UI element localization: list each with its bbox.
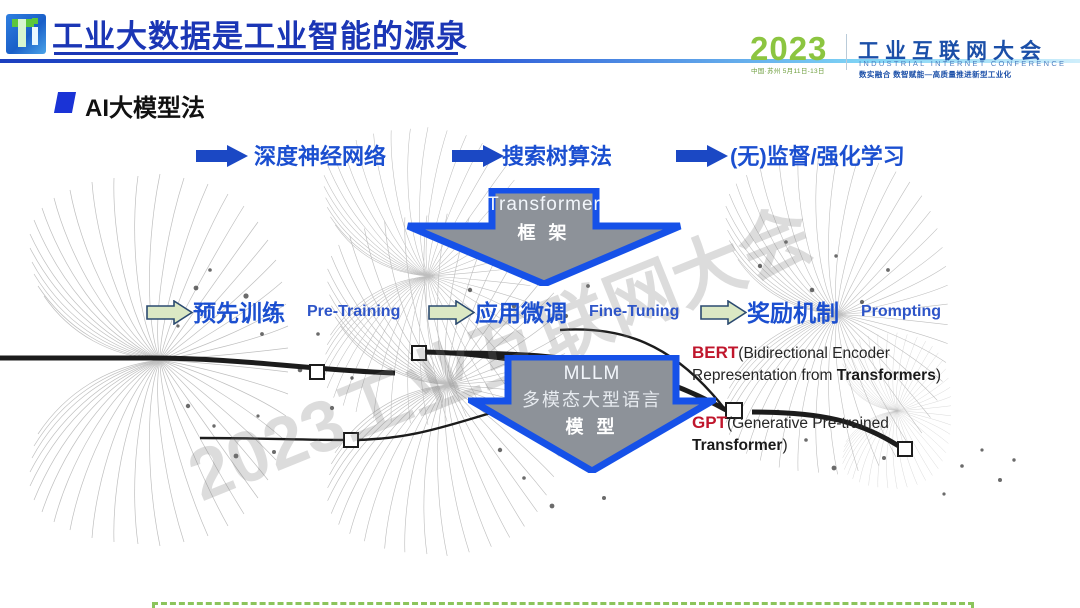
callout-line-2: 框 架	[404, 219, 684, 245]
arrow-head	[483, 145, 504, 167]
blue-parallelogram-bullet-icon	[54, 92, 76, 113]
arrow-shaft	[196, 150, 229, 162]
callout-text: Transformer 框 架	[404, 188, 684, 245]
gpt-note: GPT(Generative Pre-trained Transformer)	[692, 412, 889, 457]
arrow-head	[227, 145, 248, 167]
arrow-shaft	[452, 150, 485, 162]
title-underline	[54, 52, 458, 55]
callout-text: MLLM 多模态大型语言 模 型	[468, 355, 716, 439]
bert-note: BERT(Bidirectional Encoder Representatio…	[692, 342, 941, 387]
arrow-shaft	[676, 150, 709, 162]
slide-header: 工业大数据是工业智能的源泉 2023 中国·苏州 5月11日-13日 工业互联网…	[0, 0, 1080, 62]
middle-row-label-en-3: Prompting	[861, 303, 941, 321]
gpt-note-line-1: GPT(Generative Pre-trained	[692, 412, 889, 435]
conference-place-date: 中国·苏州 5月11日-13日	[751, 65, 825, 75]
outcomes-dashed-container	[152, 602, 974, 608]
logo-i-stem	[32, 27, 38, 45]
page-title: 工业大数据是工业智能的源泉	[52, 11, 468, 56]
logo-t-stem	[18, 19, 26, 47]
arrow-outline-shape	[428, 300, 475, 325]
transformer-callout: Transformer 框 架	[404, 188, 684, 286]
arrow-head	[707, 145, 728, 167]
middle-row-label-cn-2: 应用微调	[475, 294, 567, 328]
ti-logo-icon	[6, 14, 46, 54]
right-arrow-icon	[452, 145, 504, 167]
slide-root: 工业大数据是工业智能的源泉 2023 中国·苏州 5月11日-13日 工业互联网…	[0, 0, 1080, 608]
middle-row-label-cn-3: 奖励机制	[747, 294, 839, 328]
callout-line-3: 模 型	[468, 413, 716, 439]
bert-expansion-bold: Transformers	[837, 367, 936, 384]
gpt-expansion-line-1: (Generative Pre-trained	[727, 415, 889, 432]
middle-row-label-en-2: Fine-Tuning	[589, 303, 679, 321]
arrow-outline-shape	[146, 300, 193, 325]
gpt-note-line-2: Transformer)	[692, 435, 889, 457]
top-row-label-1: 深度神经网络	[254, 139, 386, 171]
bert-note-line-2: Representation from Transformers)	[692, 365, 941, 387]
callout-line-1: MLLM	[468, 363, 716, 385]
conference-name-en: INDUSTRIAL INTERNET CONFERENCE	[859, 59, 1066, 68]
middle-row-label-en-1: Pre-Training	[307, 303, 400, 321]
conference-logo-divider	[846, 34, 847, 70]
callout-line-1: Transformer	[404, 194, 684, 216]
conference-logo: 2023 中国·苏州 5月11日-13日 工业互联网大会 INDUSTRIAL …	[746, 33, 1076, 77]
callout-line-2: 多模态大型语言	[468, 386, 716, 412]
middle-row-label-cn-1: 预先训练	[193, 294, 285, 328]
bert-note-line-1: BERT(Bidirectional Encoder	[692, 342, 941, 365]
gpt-expansion-bold: Transformer	[692, 437, 782, 454]
top-row-label-3: (无)监督/强化学习	[730, 139, 905, 171]
mllm-callout: MLLM 多模态大型语言 模 型	[468, 355, 716, 473]
bert-expansion-line-2-post: )	[936, 367, 941, 384]
right-arrow-outline-icon	[700, 300, 747, 325]
conference-slogan: 数实融合 数智赋能—高质量推进新型工业化	[859, 69, 1012, 80]
right-arrow-outline-icon	[428, 300, 475, 325]
conference-year: 2023	[750, 33, 827, 65]
bert-expansion-line-1: (Bidirectional Encoder	[738, 345, 890, 362]
right-arrow-icon	[676, 145, 728, 167]
section-title-label: AI大模型法	[85, 88, 205, 123]
diagram-canvas: 2023工业互联网大会 深度神经网络 搜索树算法 (无)监督/强化学习 Tran…	[0, 120, 1080, 608]
gpt-expansion-line-2-post: )	[782, 437, 787, 454]
logo-i-dot	[32, 18, 38, 24]
top-row-label-2: 搜索树算法	[502, 139, 612, 171]
right-arrow-icon	[196, 145, 248, 167]
arrow-outline-shape	[700, 300, 747, 325]
right-arrow-outline-icon	[146, 300, 193, 325]
